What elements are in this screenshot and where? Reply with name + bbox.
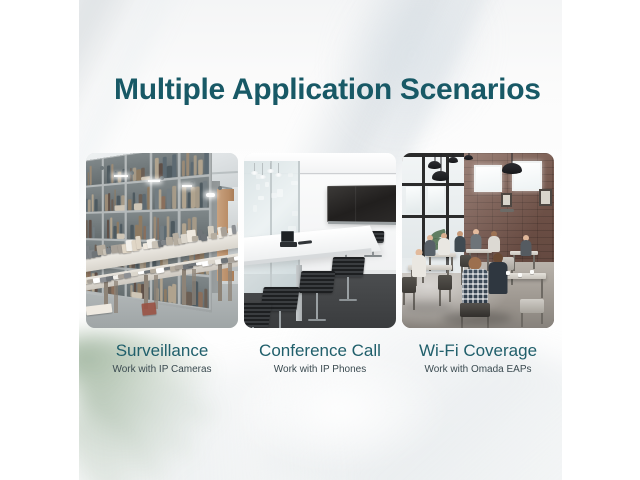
caption-title: Conference Call — [244, 340, 396, 361]
cafe-patron — [488, 231, 500, 253]
bookshelf-cell — [103, 212, 126, 241]
track-light — [160, 176, 164, 180]
caption-subtitle: Work with IP Phones — [244, 364, 396, 377]
track-light — [218, 186, 222, 190]
cafe-patron — [488, 253, 507, 295]
track-light — [130, 171, 134, 175]
bookshelf-cell — [86, 212, 103, 239]
scenario-image-conference-call — [244, 153, 396, 328]
caption-subtitle: Work with Omada EAPs — [402, 364, 554, 377]
caption-title: Surveillance — [86, 340, 238, 361]
track-light — [100, 166, 104, 170]
bookshelf-cell — [151, 178, 179, 211]
scenario-image-surveillance — [86, 153, 238, 328]
pendant-lamp — [464, 153, 473, 160]
pendant-lamp — [502, 153, 522, 174]
bookshelf-cell — [179, 153, 210, 178]
letterbox-left — [0, 0, 79, 480]
screenshot-stage: Multiple Application Scenarios — [0, 0, 640, 480]
cafe-photo — [402, 153, 554, 328]
scenario-image-row — [86, 153, 556, 328]
bookshelf-cell — [86, 185, 103, 213]
cafe-patron — [454, 231, 465, 253]
bookshelf-cell — [86, 158, 103, 187]
letterbox-right — [562, 0, 640, 480]
content-panel: Multiple Application Scenarios — [79, 0, 562, 480]
caption-wifi-coverage: Wi-Fi Coverage Work with Omada EAPs — [402, 340, 554, 390]
conference-room-photo — [244, 153, 396, 328]
pendant-lamp — [432, 153, 449, 181]
scenario-image-wifi-coverage — [402, 153, 554, 328]
cafe-chair — [402, 277, 416, 293]
caption-surveillance: Surveillance Work with IP Cameras — [86, 340, 238, 390]
bookshelf-cell — [126, 181, 151, 212]
bookshelf-cell — [151, 153, 179, 181]
caption-conference-call: Conference Call Work with IP Phones — [244, 340, 396, 390]
cafe-patron — [520, 235, 531, 257]
cafe-patron — [412, 249, 426, 278]
scenario-caption-row: Surveillance Work with IP Cameras Confer… — [86, 340, 556, 390]
caption-title: Wi-Fi Coverage — [402, 340, 554, 361]
cafe-patron — [438, 233, 450, 256]
cafe-chair — [438, 275, 452, 290]
pendant-lamp — [448, 153, 458, 163]
library-photo — [86, 153, 238, 328]
page-title: Multiple Application Scenarios — [114, 73, 534, 106]
cafe-patron — [470, 229, 481, 250]
bookshelf-cell — [126, 153, 151, 183]
bookshelf-cell — [103, 154, 126, 185]
cafe-chair — [520, 299, 544, 313]
bookshelf-cell — [103, 183, 126, 212]
caption-subtitle: Work with IP Cameras — [86, 364, 238, 377]
